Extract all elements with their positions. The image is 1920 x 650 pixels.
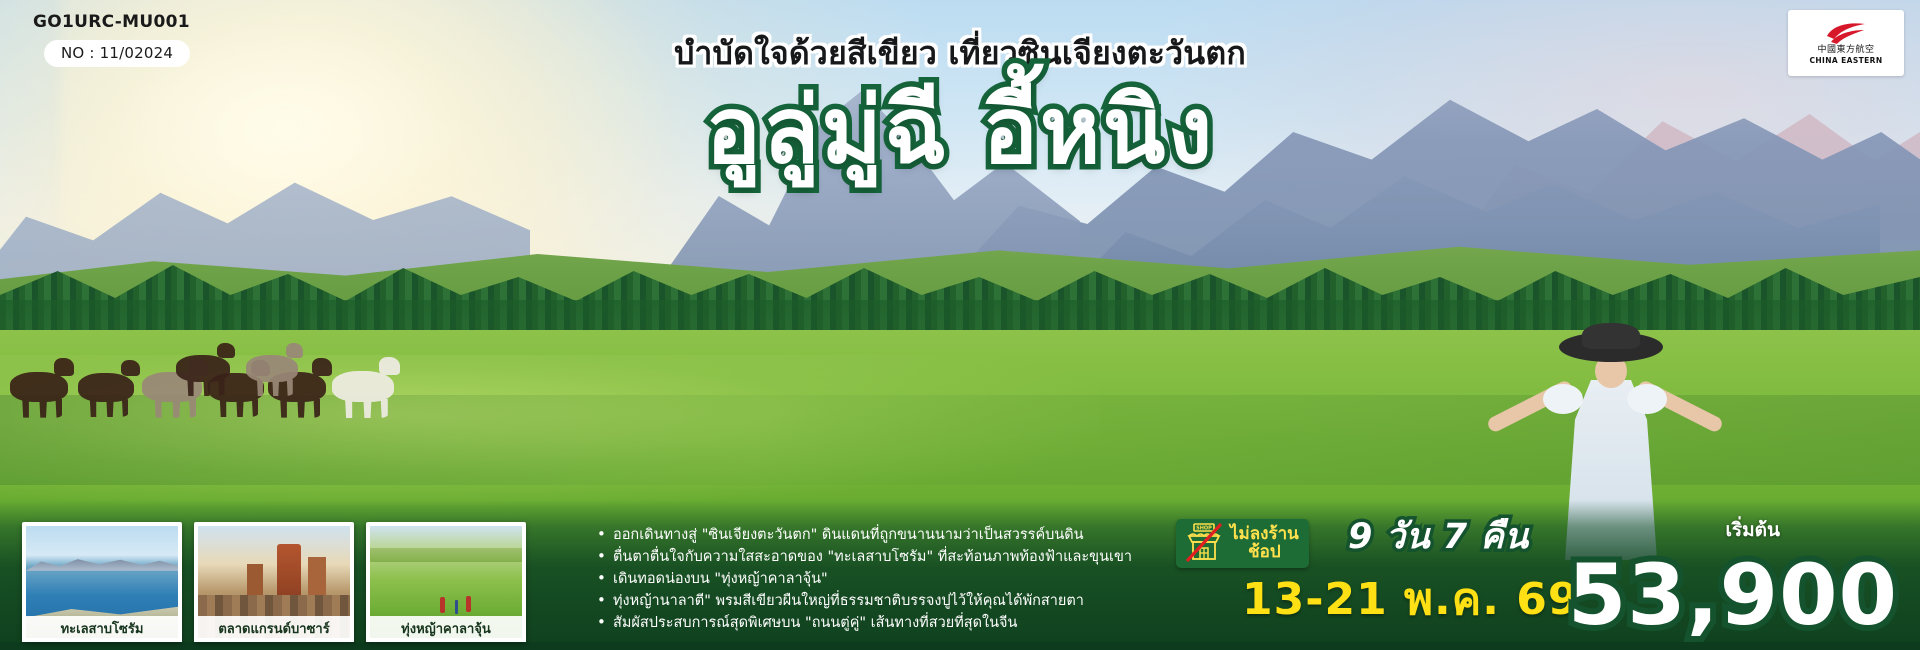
no-shopping-line2: ช้อป <box>1230 543 1299 561</box>
horse-silhouette <box>246 355 298 382</box>
page-title: อูลู่มู่ฉี อี้หนิง <box>0 78 1920 184</box>
horse-silhouette <box>10 372 68 402</box>
travel-banner: GO1URC-MU001 NO : 11/02024 中國東方航空 CHINA … <box>0 0 1920 650</box>
list-item: ตื่นตาตื่นใจกับความใสสะอาดของ "ทะเลสาบโซ… <box>596 546 1176 568</box>
thumbnail-item[interactable]: ทุ่งหญ้าคาลาจุ้น <box>366 522 526 642</box>
travel-date-range: 13-21 พ.ค. 69 <box>1242 564 1579 634</box>
no-shopping-badge: SHOP ไม่ลงร้าน ช้อป <box>1176 519 1309 568</box>
shop-store-icon: SHOP <box>1184 523 1224 563</box>
list-item: ออกเดินทางสู่ "ซินเจียงตะวันตก" ดินแดนที… <box>596 524 1176 546</box>
thumbnail-caption: ทุ่งหญ้าคาลาจุ้น <box>366 616 526 642</box>
list-item: ทุ่งหญ้านาลาตี" พรมสีเขียวผืนใหญ่ที่ธรรม… <box>596 590 1176 612</box>
thumbnail-item[interactable]: ทะเลสาบโซรัม <box>22 522 182 642</box>
horse-silhouette <box>78 373 134 402</box>
thumbnail-gallery: ทะเลสาบโซรัม ตลาดแกรนด์บาซาร์ ทุ่งหญ้าคา… <box>22 522 526 642</box>
price-from-label: เริ่มต้น <box>1725 515 1780 545</box>
no-shopping-label: ไม่ลงร้าน ช้อป <box>1230 525 1299 561</box>
svg-text:SHOP: SHOP <box>1196 526 1212 532</box>
thumbnail-caption: ตลาดแกรนด์บาซาร์ <box>194 616 354 642</box>
trip-duration: 9 วัน 7 คืน <box>1348 509 1529 564</box>
thumbnail-item[interactable]: ตลาดแกรนด์บาซาร์ <box>194 522 354 642</box>
subtitle: บำบัดใจด้วยสีเขียว เที่ยวซินเจียงตะวันตก <box>0 28 1920 79</box>
sun-hat-crown <box>1582 323 1640 349</box>
price-amount: 53,900 <box>1568 554 1898 636</box>
no-shopping-line1: ไม่ลงร้าน <box>1230 525 1299 543</box>
horse-silhouette <box>332 371 394 402</box>
thumbnail-caption: ทะเลสาบโซรัม <box>22 616 182 642</box>
woman-left-sleeve <box>1543 384 1583 414</box>
list-item: เดินทอดน่องบน "ทุ่งหญ้าคาลาจุ้น" <box>596 568 1176 590</box>
horse-silhouette <box>176 355 230 382</box>
woman-right-sleeve <box>1627 384 1667 414</box>
itinerary-highlights: ออกเดินทางสู่ "ซินเจียงตะวันตก" ดินแดนที… <box>596 524 1176 634</box>
list-item: สัมผัสประสบการณ์สุดพิเศษบน "ถนนตู่คู่" เ… <box>596 612 1176 634</box>
